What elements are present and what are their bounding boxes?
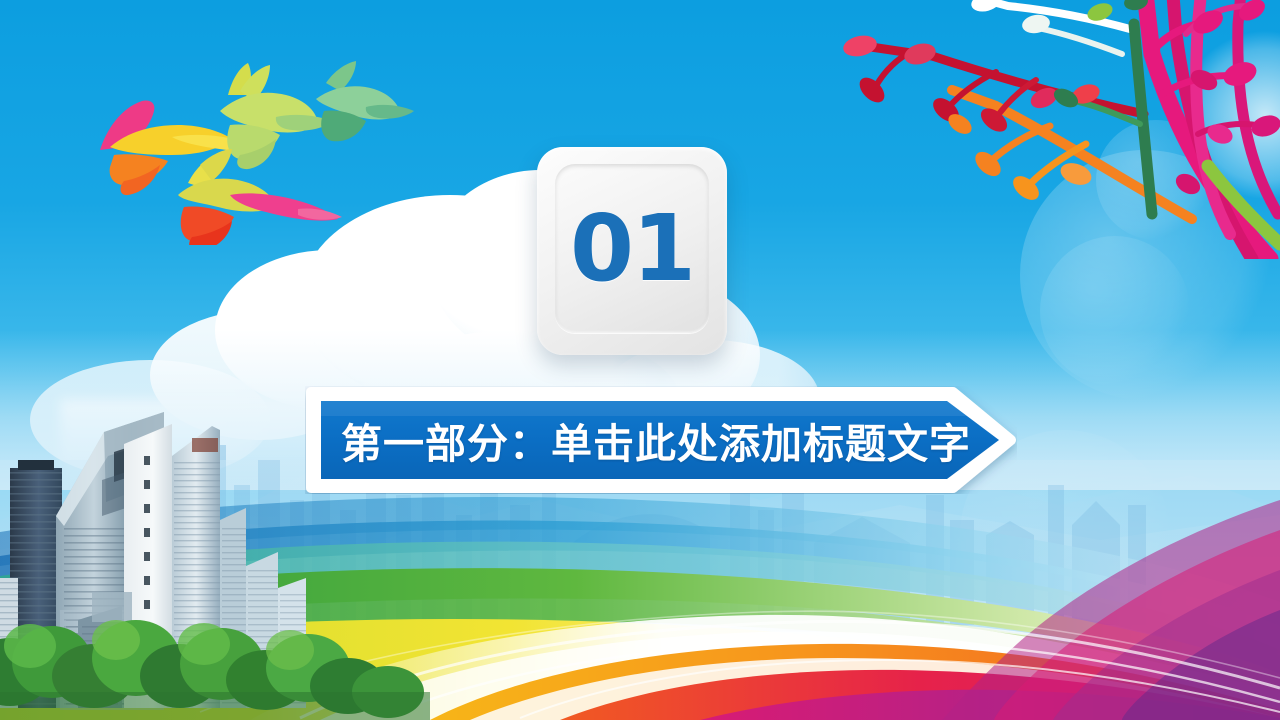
flying-birds-group [80,55,420,245]
section-title-text: 第一部分：单击此处添加标题文字 [305,410,971,470]
section-number-badge-face: 01 [555,164,709,333]
section-number-text: 01 [570,203,694,295]
colorful-branch-cluster [800,0,1280,259]
bird-green-icon [316,61,414,141]
green-tree-line [0,596,470,720]
section-number-badge: 01 [537,147,727,355]
section-title-banner[interactable]: 第一部分：单击此处添加标题文字 [305,386,1017,494]
section-title-label-wrap: 第一部分：单击此处添加标题文字 [305,386,1017,494]
slide-canvas: 01 第一部分：单击此处添加标题文字 [0,0,1280,720]
bird-yellow-green-icon [220,63,332,169]
